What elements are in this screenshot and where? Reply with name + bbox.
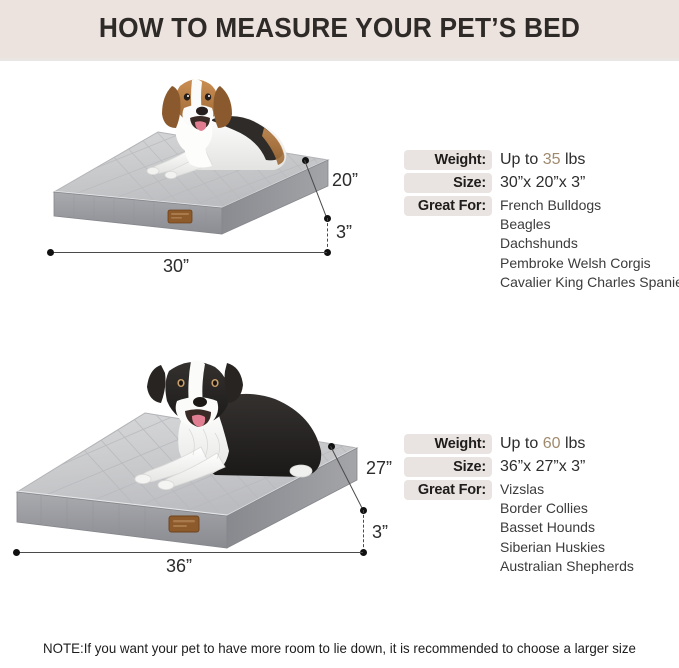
weight-prefix: Up to [500,151,538,168]
spec-row-size: Size: 30”x 20”x 3” [404,173,679,193]
dim-label-length: 36” [166,556,192,577]
page-title: HOW TO MEASURE YOUR PET’S BED [20,12,658,44]
dim-line-height [363,510,364,552]
dim-label-width: 27” [366,458,392,479]
list-item: Australian Shepherds [500,557,634,576]
spec-row-weight: Weight: Up to 35 lbs [404,150,679,170]
size-value: 30”x 20”x 3” [500,173,585,193]
spec-panel-small-bed: Weight: Up to 35 lbs Size: 30”x 20”x 3” … [404,150,679,219]
header-divider [0,58,679,61]
list-item: French Bulldogs [500,196,679,215]
dog-image-beagle [128,70,298,195]
spec-row-great-for: Great For: Vizslas Border Collies Basset… [404,480,679,500]
spec-row-size: Size: 36”x 27”x 3” [404,457,679,477]
list-item: Beagles [500,215,679,234]
list-item: Dachshunds [500,234,679,253]
weight-value: Up to 35 lbs [500,150,585,170]
size-value: 36”x 27”x 3” [500,457,585,477]
dim-line-height [327,218,328,252]
list-item: Vizslas [500,480,634,499]
dim-line-length [16,552,363,553]
page-header: HOW TO MEASURE YOUR PET’S BED [0,0,679,58]
weight-label: Weight: [404,150,492,170]
dim-line-length [50,252,327,253]
weight-number: 35 [543,151,561,168]
dim-dot-bottom-left [13,549,20,556]
brand-tag-icon [168,210,192,223]
breed-list: Vizslas Border Collies Basset Hounds Sib… [500,480,634,576]
footer-note: NOTE:If you want your pet to have more r… [17,640,662,656]
spec-row-great-for: Great For: French Bulldogs Beagles Dachs… [404,196,679,216]
weight-label: Weight: [404,434,492,454]
great-for-label: Great For: [404,196,492,216]
brand-tag-icon [169,516,199,532]
dim-label-height: 3” [336,222,352,243]
spec-panel-large-bed: Weight: Up to 60 lbs Size: 36”x 27”x 3” … [404,434,679,503]
size-label: Size: [404,457,492,477]
dim-label-height: 3” [372,522,388,543]
list-item: Border Collies [500,499,634,518]
size-label: Size: [404,173,492,193]
product-1-illustration: 20” 3” 30” [0,70,395,270]
spec-row-weight: Weight: Up to 60 lbs [404,434,679,454]
weight-prefix: Up to [500,435,538,452]
dim-dot-bottom-left [47,249,54,256]
list-item: Siberian Huskies [500,538,634,557]
weight-unit: lbs [565,151,585,168]
weight-number: 60 [543,435,561,452]
list-item: Basset Hounds [500,518,634,537]
breed-list: French Bulldogs Beagles Dachshunds Pembr… [500,196,679,292]
product-2-illustration: 27” 3” 36” [0,355,395,570]
dog-image-border-collie [105,355,335,505]
list-item: Cavalier King Charles Spaniels [500,273,679,292]
dim-label-width: 20” [332,170,358,191]
great-for-label: Great For: [404,480,492,500]
weight-unit: lbs [565,435,585,452]
weight-value: Up to 60 lbs [500,434,585,454]
list-item: Pembroke Welsh Corgis [500,254,679,273]
dim-label-length: 30” [163,256,189,277]
